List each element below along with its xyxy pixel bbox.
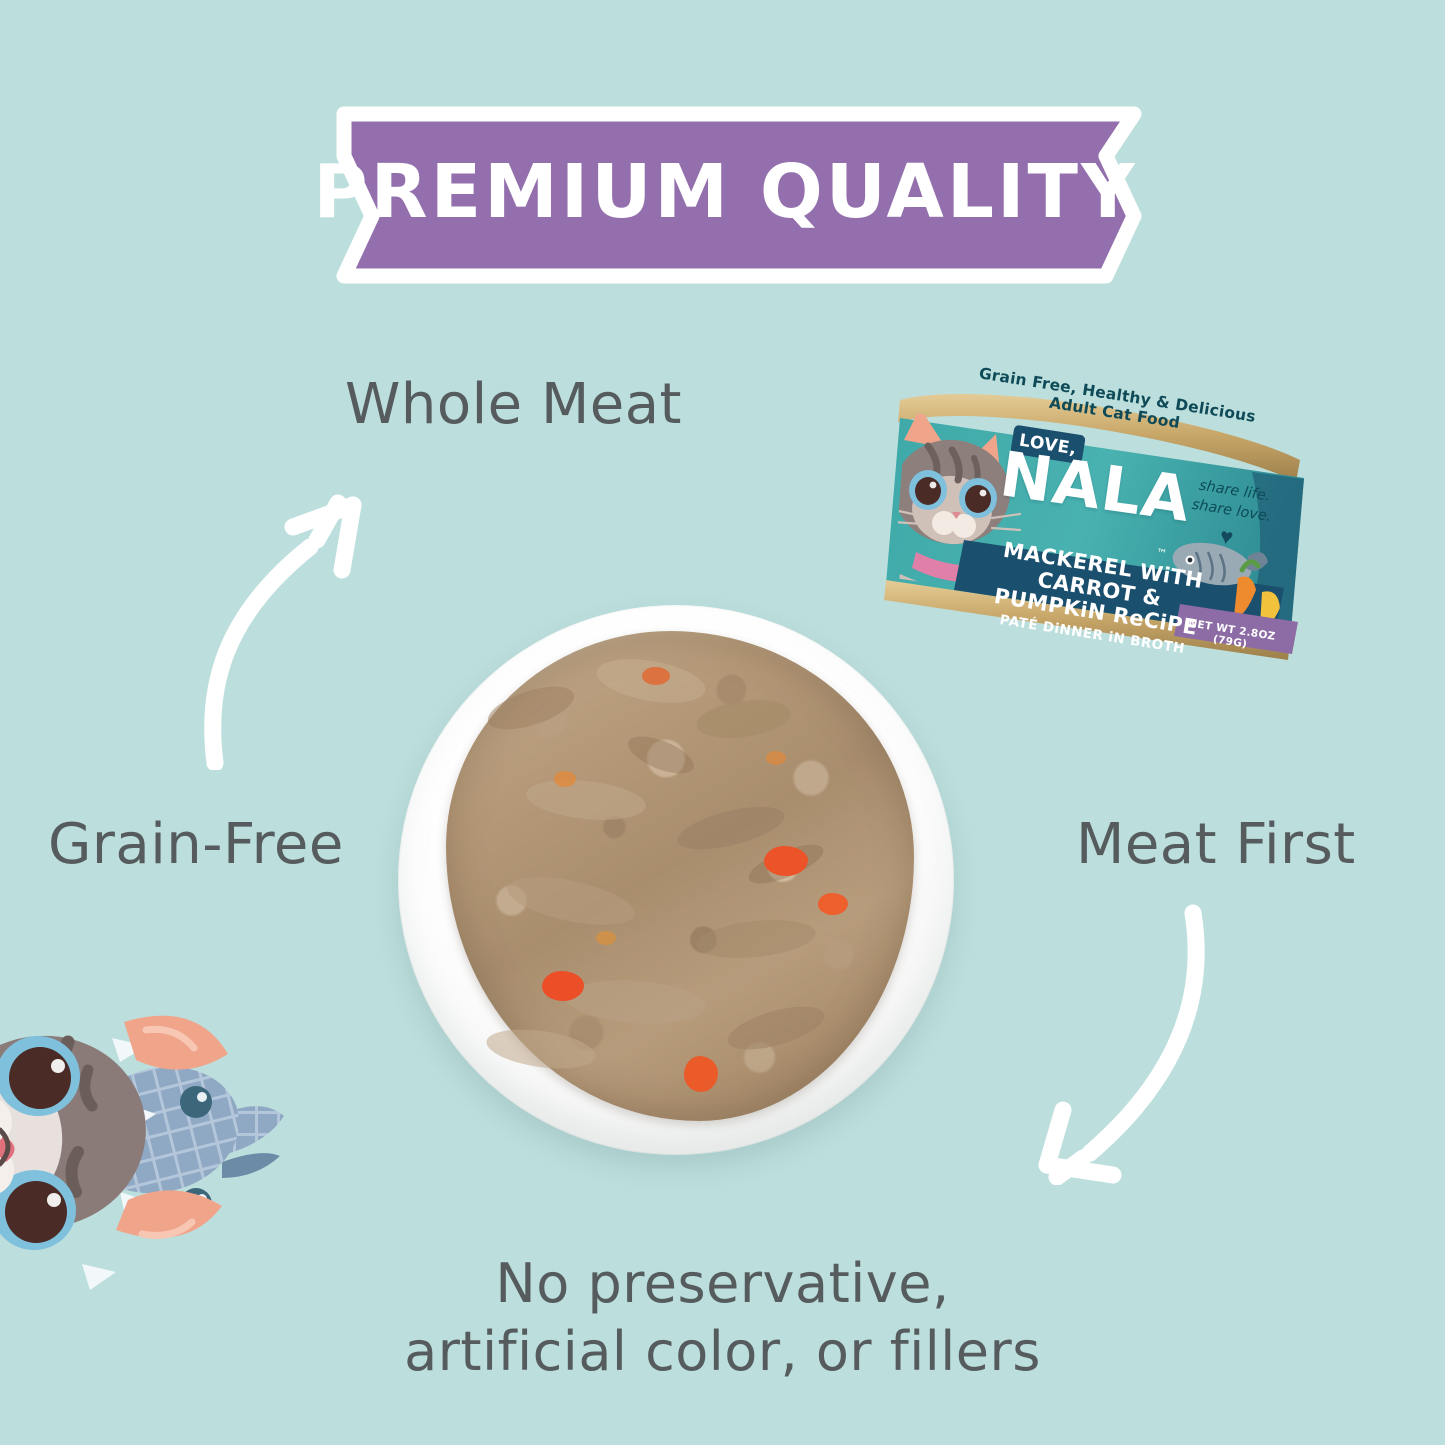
- premium-quality-banner: PREMIUM QUALITY: [268, 92, 1183, 297]
- cat-ear: [124, 1016, 228, 1070]
- arrow-up-right-icon: [185, 485, 395, 770]
- product-infographic: PREMIUM QUALITY Whole Meat Grain-Free Me…: [0, 0, 1445, 1445]
- arrow-down-left-icon: [985, 895, 1220, 1185]
- product-can: Grain Free, Healthy & Delicious Adult Ca…: [860, 342, 1320, 698]
- veggie-piece: [554, 771, 576, 787]
- pate-food-mound: [446, 631, 914, 1121]
- veggie-piece: [818, 893, 848, 915]
- veggie-piece: [684, 1056, 718, 1092]
- veggie-piece: [766, 751, 786, 765]
- feature-label-whole-meat: Whole Meat: [345, 372, 682, 438]
- feature-label-grain-free: Grain-Free: [48, 812, 344, 878]
- veggie-piece: [596, 931, 616, 945]
- banner-title: PREMIUM QUALITY: [268, 92, 1183, 297]
- veggie-piece: [542, 971, 584, 1001]
- mascot-shape: [0, 930, 294, 1330]
- veggie-piece: [642, 667, 670, 685]
- can-body-shape: [860, 342, 1320, 698]
- fish-eye: [180, 1086, 212, 1118]
- veggie-piece: [764, 846, 808, 876]
- feature-label-meat-first: Meat First: [1076, 812, 1356, 878]
- cat-mascot-illustration: [0, 930, 294, 1330]
